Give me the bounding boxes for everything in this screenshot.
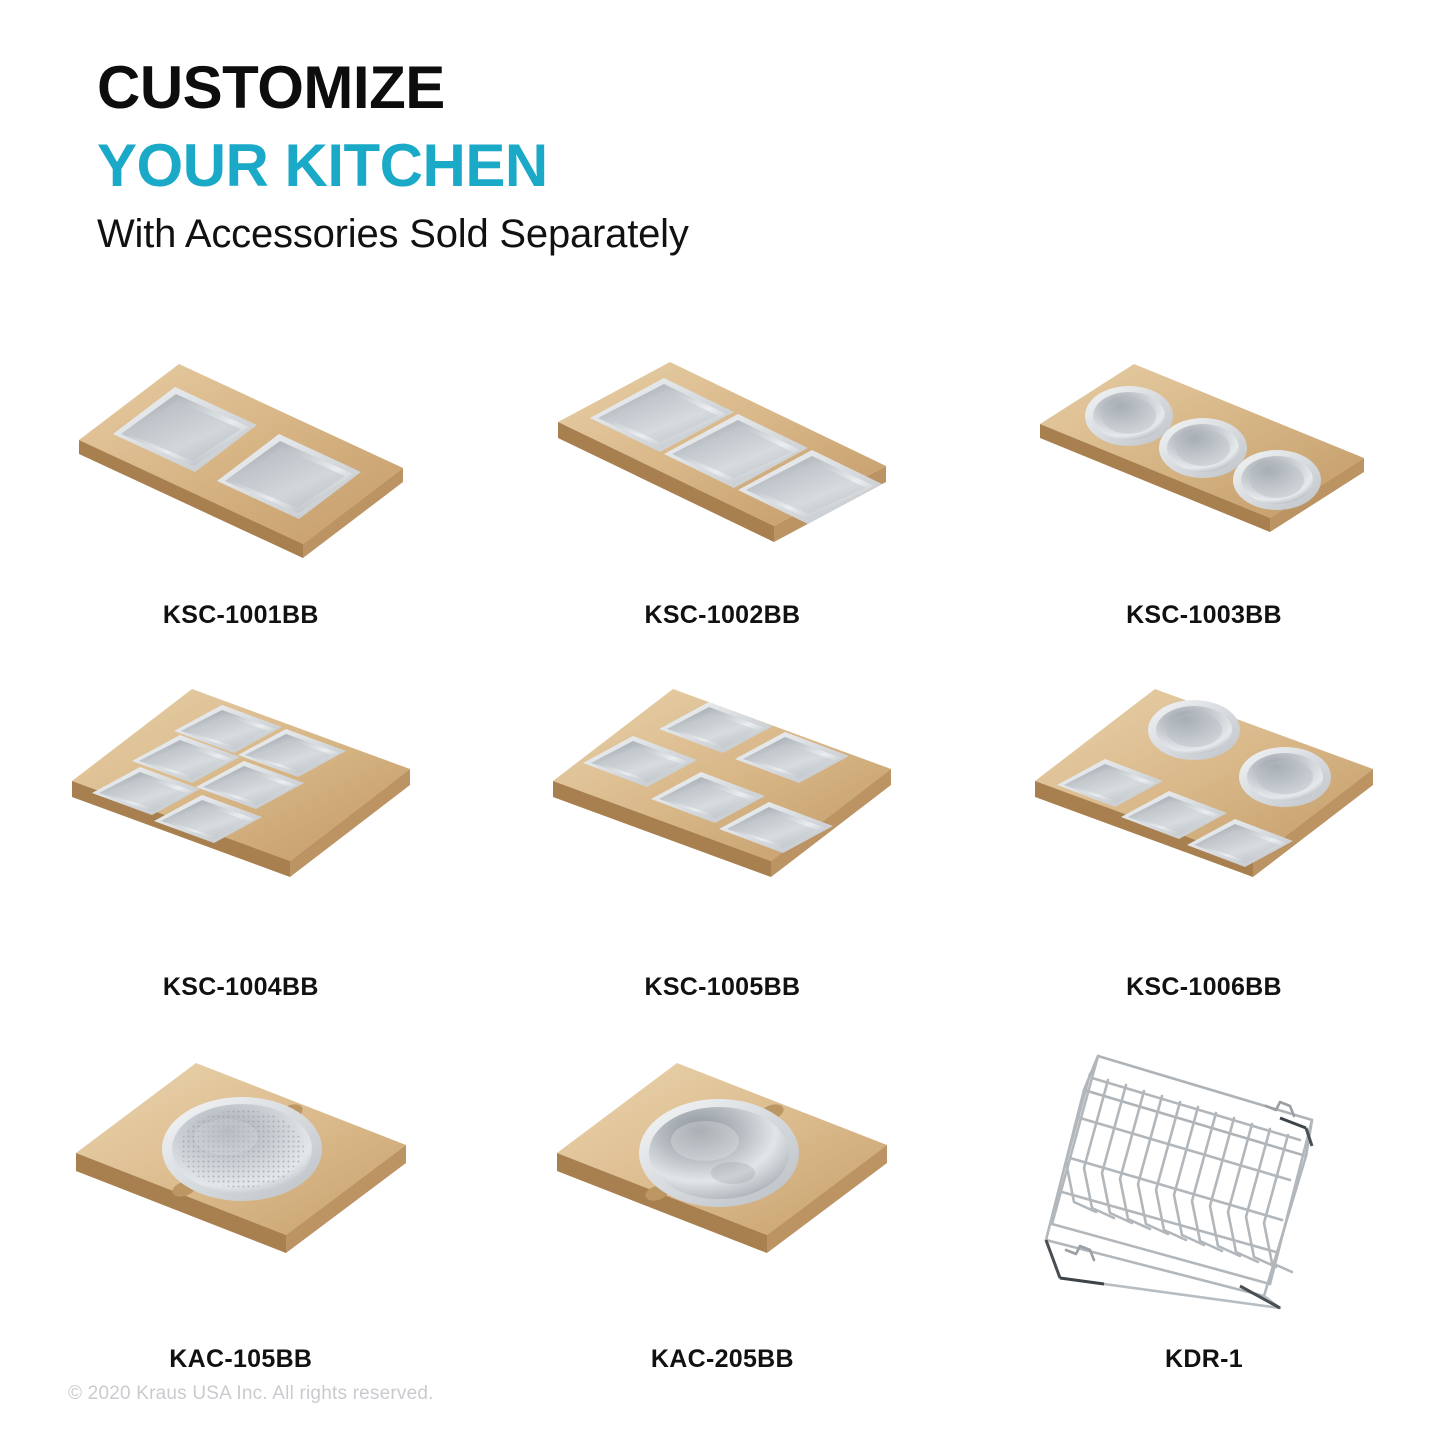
bamboo-board-colander-icon bbox=[66, 1049, 416, 1299]
bamboo-board-3-rect-2-round-bowls-icon bbox=[1029, 677, 1379, 927]
product-image-ksc-1003bb bbox=[1004, 330, 1404, 595]
product-card-ksc-1001bb[interactable]: KSC-1001BB bbox=[0, 330, 482, 630]
product-accessories-page: CUSTOMIZE YOUR KITCHEN With Accessories … bbox=[0, 0, 1445, 1445]
product-image-kac-105bb bbox=[41, 1002, 441, 1345]
bamboo-board-mixing-bowl-icon bbox=[547, 1049, 897, 1299]
product-image-kdr-1 bbox=[1004, 1002, 1404, 1345]
product-image-ksc-1004bb bbox=[41, 630, 441, 973]
page-title-line-2: YOUR KITCHEN bbox=[97, 136, 689, 196]
bamboo-board-5-rect-bowls-icon bbox=[547, 677, 897, 927]
product-sku-label: KAC-205BB bbox=[651, 1345, 794, 1374]
page-subtitle: With Accessories Sold Separately bbox=[97, 212, 689, 257]
product-sku-label: KSC-1002BB bbox=[644, 595, 800, 630]
bamboo-board-3-rect-bowls-icon bbox=[552, 348, 892, 578]
product-row-3: KAC-105BB bbox=[0, 1002, 1445, 1374]
product-card-kdr-1[interactable]: KDR-1 bbox=[963, 1002, 1445, 1374]
product-image-ksc-1002bb bbox=[522, 330, 922, 595]
page-header: CUSTOMIZE YOUR KITCHEN With Accessories … bbox=[97, 58, 689, 257]
product-card-kac-105bb[interactable]: KAC-105BB bbox=[0, 1002, 482, 1374]
product-sku-label: KSC-1005BB bbox=[644, 973, 800, 1002]
product-card-kac-205bb[interactable]: KAC-205BB bbox=[482, 1002, 964, 1374]
product-card-ksc-1004bb[interactable]: KSC-1004BB bbox=[0, 630, 482, 1002]
product-image-kac-205bb bbox=[522, 1002, 922, 1345]
product-sku-label: KDR-1 bbox=[1165, 1345, 1243, 1374]
wire-dish-drying-rack-icon bbox=[1044, 1034, 1364, 1314]
product-card-ksc-1005bb[interactable]: KSC-1005BB bbox=[482, 630, 964, 1002]
product-image-ksc-1001bb bbox=[41, 330, 441, 595]
page-title-line-1: CUSTOMIZE bbox=[97, 58, 689, 118]
product-card-ksc-1006bb[interactable]: KSC-1006BB bbox=[963, 630, 1445, 1002]
copyright-notice: © 2020 Kraus USA Inc. All rights reserve… bbox=[68, 1383, 434, 1405]
bamboo-board-3-round-bowls-icon bbox=[1034, 348, 1374, 578]
product-image-ksc-1006bb bbox=[1004, 630, 1404, 973]
product-row-2: KSC-1004BB bbox=[0, 630, 1445, 1002]
product-image-ksc-1005bb bbox=[522, 630, 922, 973]
bamboo-board-6-rect-bowls-icon bbox=[66, 677, 416, 927]
product-card-ksc-1002bb[interactable]: KSC-1002BB bbox=[482, 330, 964, 630]
product-sku-label: KSC-1003BB bbox=[1126, 595, 1282, 630]
product-card-ksc-1003bb[interactable]: KSC-1003BB bbox=[963, 330, 1445, 630]
bamboo-board-2-rect-bowls-icon bbox=[71, 348, 411, 578]
product-sku-label: KSC-1006BB bbox=[1126, 973, 1282, 1002]
product-row-1: KSC-1001BB bbox=[0, 330, 1445, 630]
product-sku-label: KSC-1004BB bbox=[163, 973, 319, 1002]
product-grid: KSC-1001BB bbox=[0, 330, 1445, 1374]
product-sku-label: KSC-1001BB bbox=[163, 595, 319, 630]
product-sku-label: KAC-105BB bbox=[169, 1345, 312, 1374]
